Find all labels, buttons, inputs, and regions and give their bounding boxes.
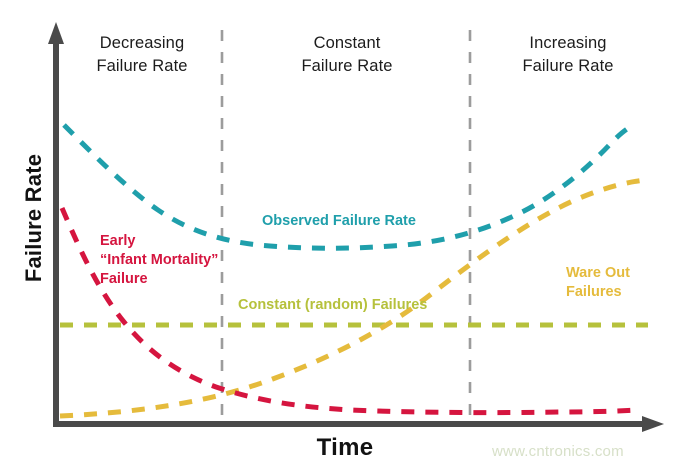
zone-header-constant: Constant Failure Rate [232,32,462,79]
x-axis-arrowhead [642,416,664,432]
zone-header-decreasing: Decreasing Failure Rate [62,32,222,79]
bathtub-curve-chart: Decreasing Failure Rate Constant Failure… [0,0,680,470]
y-axis-title: Failure Rate [21,148,47,288]
watermark-url: www.cntronics.com [492,443,624,460]
curve-label-early-infant-mortality: Early “Infant Mortality” Failure [100,232,218,289]
zone-header-increasing: Increasing Failure Rate [478,32,658,79]
curve-label-observed-failure-rate: Observed Failure Rate [262,212,416,231]
x-axis-title: Time [280,434,410,462]
curve-label-ware-out-failures: Ware Out Failures [566,264,630,302]
curve-label-constant-random-failures: Constant (random) Failures [238,296,427,315]
